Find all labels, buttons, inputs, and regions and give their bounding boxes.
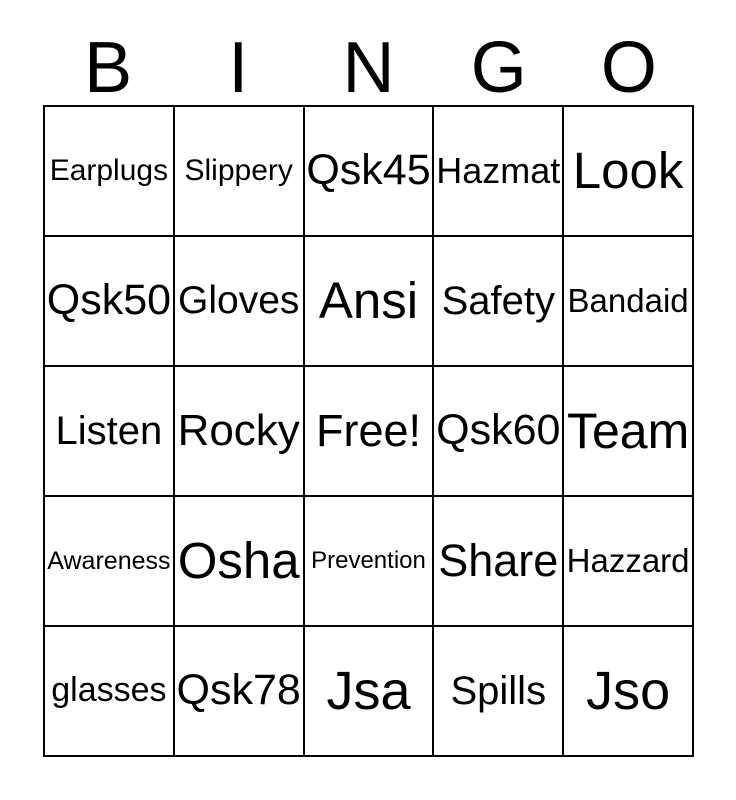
bingo-cell-r4c4[interactable]: Share [434,497,564,627]
header-letter-o: O [564,24,694,102]
header-letter-n: N [303,24,433,102]
bingo-cell-r4c5[interactable]: Hazzard [564,497,694,627]
bingo-cell-label: glasses [51,673,166,709]
bingo-card: B I N G O Earplugs Slippery Qsk45 Hazmat… [0,0,736,800]
bingo-cell-r4c3[interactable]: Prevention [305,497,435,627]
bingo-cell-r4c2[interactable]: Osha [175,497,305,627]
bingo-cell-label: Rocky [178,408,300,454]
bingo-cell-label: Qsk45 [306,148,430,193]
bingo-cell-label: Ansi [319,274,418,328]
bingo-cell-r4c1[interactable]: Awareness [45,497,175,627]
header-letter-g: G [434,24,564,102]
bingo-cell-label: Awareness [47,548,170,574]
header-letter-i: I [173,24,303,102]
bingo-cell-r5c2[interactable]: Qsk78 [175,627,305,757]
bingo-cell-label: Qsk60 [436,408,560,453]
bingo-cell-r2c2[interactable]: Gloves [175,237,305,367]
bingo-cell-label: Osha [178,534,300,588]
bingo-cell-label: Spills [450,670,546,712]
bingo-cell-label: Bandaid [568,284,689,319]
bingo-header-row: B I N G O [43,24,694,102]
bingo-cell-label: Earplugs [50,155,168,187]
bingo-cell-label: Look [573,144,684,198]
bingo-cell-r1c3[interactable]: Qsk45 [305,107,435,237]
bingo-cell-free-space[interactable]: Free! [305,367,435,497]
bingo-cell-r3c4[interactable]: Qsk60 [434,367,564,497]
bingo-cell-label: Slippery [185,155,293,187]
bingo-cell-label: Qsk50 [47,278,171,323]
bingo-cell-label: Team [567,405,689,458]
bingo-cell-r1c2[interactable]: Slippery [175,107,305,237]
bingo-cell-label: Prevention [311,548,426,573]
bingo-cell-r2c4[interactable]: Safety [434,237,564,367]
bingo-cell-r3c2[interactable]: Rocky [175,367,305,497]
bingo-cell-r1c4[interactable]: Hazmat [434,107,564,237]
bingo-cell-r5c4[interactable]: Spills [434,627,564,757]
bingo-cell-r1c5[interactable]: Look [564,107,694,237]
bingo-cell-r2c1[interactable]: Qsk50 [45,237,175,367]
bingo-cell-label: Jsa [326,663,410,720]
bingo-free-space-label: Free! [316,407,421,454]
bingo-cell-r5c5[interactable]: Jso [564,627,694,757]
bingo-cell-label: Gloves [178,281,299,322]
bingo-cell-label: Hazmat [436,152,560,190]
bingo-cell-r5c3[interactable]: Jsa [305,627,435,757]
bingo-cell-r1c1[interactable]: Earplugs [45,107,175,237]
bingo-cell-r3c5[interactable]: Team [564,367,694,497]
bingo-cell-label: Qsk78 [177,668,301,713]
bingo-cell-label: Jso [586,663,670,720]
bingo-cell-label: Hazzard [567,544,690,579]
bingo-cell-label: Listen [56,410,163,452]
bingo-cell-r3c1[interactable]: Listen [45,367,175,497]
bingo-cell-r5c1[interactable]: glasses [45,627,175,757]
bingo-cell-r2c5[interactable]: Bandaid [564,237,694,367]
bingo-cell-label: Safety [442,280,555,322]
bingo-cell-label: Share [438,537,558,584]
bingo-cell-r2c3[interactable]: Ansi [305,237,435,367]
bingo-grid: Earplugs Slippery Qsk45 Hazmat Look Qsk5… [43,105,694,757]
header-letter-b: B [43,24,173,102]
